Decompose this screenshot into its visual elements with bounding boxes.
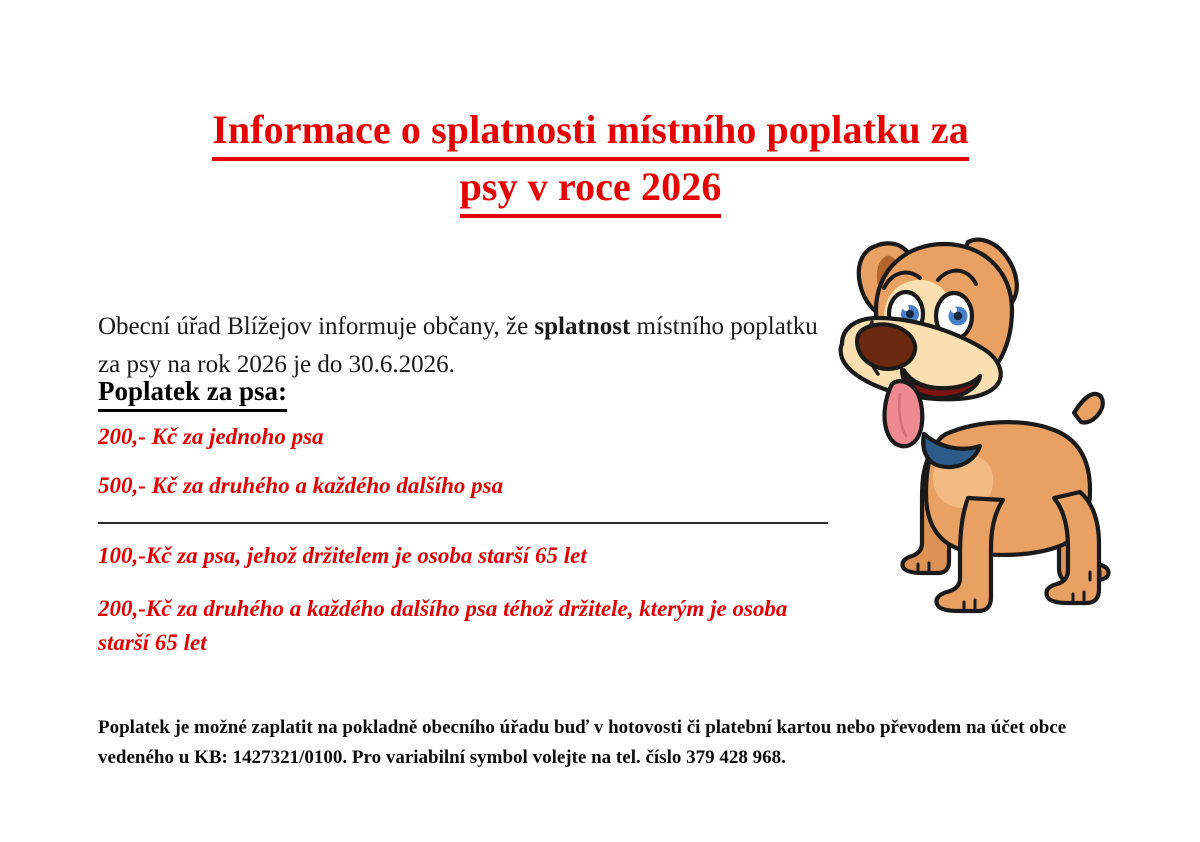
poster-page: Informace o splatnosti místního poplatku… bbox=[0, 0, 1200, 842]
fee-item: 500,- Kč za druhého a každého dalšího ps… bbox=[98, 473, 858, 499]
dog-tail bbox=[1074, 394, 1103, 423]
fee-item: 100,-Kč za psa, jehož držitelem je osoba… bbox=[98, 543, 858, 569]
dog-tongue bbox=[885, 381, 923, 446]
fees-section-heading: Poplatek za psa: bbox=[98, 374, 287, 412]
page-title-line-2-text: psy v roce 2026 bbox=[460, 161, 722, 218]
fees-section-heading-text: Poplatek za psa: bbox=[98, 374, 287, 412]
intro-emphasis-splatnost: splatnost bbox=[534, 313, 630, 340]
payment-instructions: Poplatek je možné zaplatit na pokladně o… bbox=[98, 713, 1083, 773]
intro-paragraph: Obecní úřad Blížejov informuje občany, ž… bbox=[98, 308, 828, 384]
dog-eye-glint-right bbox=[951, 307, 957, 313]
dog-pupil-left bbox=[906, 310, 914, 318]
page-title-line-1: Informace o splatnosti místního poplatku… bbox=[98, 104, 1083, 161]
fee-item: 200,-Kč za druhého a každého dalšího psa… bbox=[98, 592, 798, 660]
dog-eye-glint-left bbox=[903, 305, 909, 311]
page-title-line-1-text: Informace o splatnosti místního poplatku… bbox=[212, 104, 969, 161]
cartoon-dog-illustration bbox=[828, 198, 1200, 623]
fees-list: 200,- Kč za jednoho psa 500,- Kč za druh… bbox=[98, 424, 858, 683]
fees-divider bbox=[98, 522, 828, 524]
fee-item: 200,- Kč za jednoho psa bbox=[98, 424, 858, 450]
intro-text-before: Obecní úřad Blížejov informuje občany, ž… bbox=[98, 313, 534, 340]
dog-nose bbox=[857, 324, 915, 368]
dog-pupil-right bbox=[954, 312, 963, 321]
